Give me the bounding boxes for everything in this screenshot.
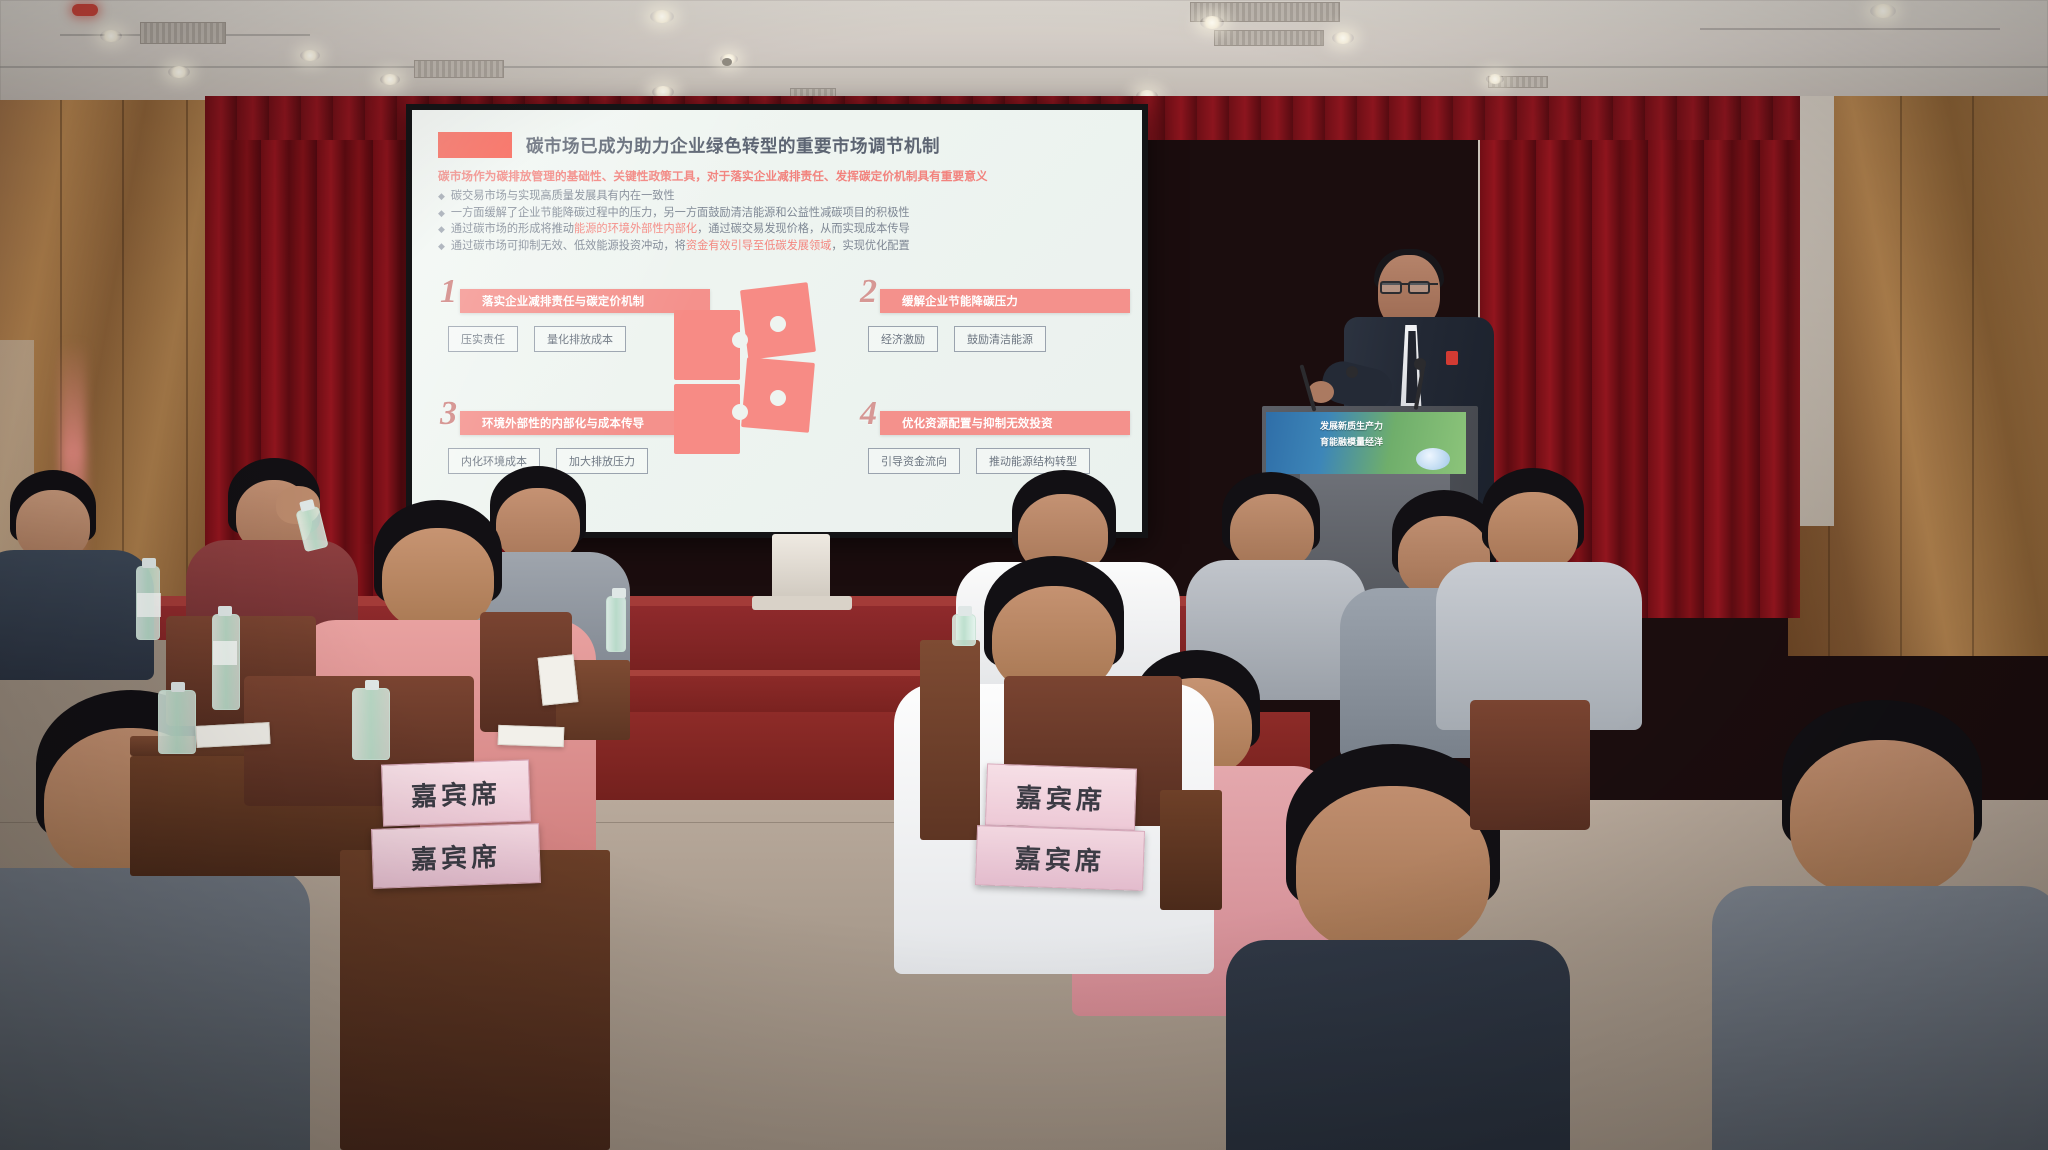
section-heading: 缓解企业节能降碳压力 [902, 293, 1018, 309]
person-torso [1226, 940, 1570, 1150]
ceiling-light [168, 66, 190, 78]
section-number: 1 [440, 275, 457, 309]
bottle-label [213, 641, 237, 665]
bottle-cap [171, 682, 185, 692]
ceiling-vent [414, 60, 504, 78]
bullet-text: 一方面缓解了企业节能降碳过程中的压力，另一方面鼓励清洁能源和公益性减碳项目的积极… [451, 206, 910, 222]
section-heading: 落实企业减排责任与碳定价机制 [482, 293, 644, 309]
bottle-cap [365, 680, 379, 690]
ceiling-vent [1214, 30, 1324, 46]
podium-banner: 发展新质生产力 育能融模量经洋 [1266, 412, 1466, 474]
section-bar: 优化资源配置与抑制无效投资 [880, 411, 1130, 435]
guest-name-card: 嘉宾席 [975, 825, 1145, 891]
ceiling-light [1332, 32, 1354, 44]
puzzle-piece [674, 310, 740, 380]
person-head [1488, 492, 1578, 572]
slide-lead-text: 碳市场作为碳排放管理的基础性、关键性政策工具，对于落实企业减排责任、发挥碳定价机… [438, 168, 1116, 184]
ceiling-light [1486, 74, 1504, 84]
water-bottle[interactable] [352, 688, 390, 760]
bullet-item: ◆ 通过碳市场可抑制无效、低效能源投资冲动，将资金有效引导至低碳发展领域，实现优… [438, 239, 1116, 255]
person-torso [0, 550, 154, 680]
chair[interactable] [1470, 700, 1590, 830]
paper-document[interactable] [195, 722, 270, 748]
person-head [1230, 494, 1314, 570]
ceiling-sensor [722, 58, 732, 66]
desk [1160, 790, 1222, 910]
slide-section-2: 2 缓解企业节能降碳压力 经济激励 鼓励清洁能源 [858, 288, 1142, 352]
ceiling-panel [0, 66, 2048, 68]
bottle-cap [958, 606, 972, 616]
puzzle-knob [732, 332, 748, 348]
slide-title-row: 碳市场已成为助力企业绿色转型的重要市场调节机制 [438, 132, 1116, 158]
section-header: 2 缓解企业节能降碳压力 [858, 288, 1142, 314]
screen-stand-base [752, 596, 852, 610]
audience-member [1436, 468, 1636, 688]
water-bottle[interactable] [606, 596, 626, 652]
section-heading: 环境外部性的内部化与成本传导 [482, 415, 644, 431]
ceiling-light [300, 50, 320, 61]
slide-title: 碳市场已成为助力企业绿色转型的重要市场调节机制 [526, 133, 940, 158]
puzzle-knob [770, 316, 786, 332]
section-bar: 环境外部性的内部化与成本传导 [460, 411, 710, 435]
glasses-lens-left [1380, 281, 1402, 294]
ceiling-vent [140, 22, 226, 44]
paper-document[interactable] [498, 725, 565, 747]
audience-member-foreground [1712, 700, 2048, 1150]
puzzle-graphic [674, 286, 824, 456]
ceiling-light [650, 10, 674, 23]
bullet-marker-icon: ◆ [438, 206, 445, 222]
water-bottle[interactable] [212, 614, 240, 710]
person-torso [1712, 886, 2048, 1150]
bullet-highlight: 资金有效引导至低碳发展领域 [686, 240, 831, 252]
wall-seam [1972, 96, 1974, 656]
bottle-cap [612, 588, 626, 598]
bullet-text: 通过碳市场的形成将推动能源的环境外部性内部化，通过碳交易发现价格，从而实现成本传… [451, 222, 910, 238]
person-head [382, 528, 494, 630]
section-bar: 缓解企业节能降碳压力 [880, 289, 1130, 313]
podium-banner-line1: 发展新质生产力 [1320, 420, 1383, 432]
desk-front [340, 850, 610, 1150]
paper-document[interactable] [538, 654, 579, 706]
ceiling-light [380, 74, 400, 85]
title-accent-block [438, 132, 512, 158]
person-head [1790, 740, 1974, 896]
bullet-marker-icon: ◆ [438, 239, 445, 255]
bottle-label [137, 593, 161, 617]
guest-name-card: 嘉宾席 [381, 759, 531, 826]
glasses-lens-right [1408, 281, 1430, 294]
microphone-head [1414, 358, 1426, 370]
section-header: 4 优化资源配置与抑制无效投资 [858, 410, 1142, 436]
speaker-lapel-badge [1446, 351, 1458, 365]
bullet-item: ◆ 一方面缓解了企业节能降碳过程中的压力，另一方面鼓励清洁能源和公益性减碳项目的… [438, 206, 1116, 222]
globe-icon [1416, 448, 1450, 470]
guest-name-card: 嘉宾席 [985, 763, 1137, 830]
section-tag: 引导资金流向 [868, 448, 960, 474]
section-tag: 鼓励清洁能源 [954, 326, 1046, 352]
bullet-marker-icon: ◆ [438, 189, 445, 205]
section-tag: 经济激励 [868, 326, 938, 352]
ceiling-light [1200, 16, 1224, 29]
section-number: 4 [860, 397, 877, 431]
podium-banner-line2: 育能融模量经洋 [1320, 436, 1383, 448]
ceiling-panel [1700, 28, 2000, 30]
guest-name-card: 嘉宾席 [371, 823, 541, 889]
water-bottle[interactable] [136, 566, 160, 640]
puzzle-piece [674, 384, 740, 454]
puzzle-knob [770, 390, 786, 406]
slide-bullet-list: ◆ 碳交易市场与实现高质量发展具有内在一致性 ◆ 一方面缓解了企业节能降碳过程中… [438, 189, 1116, 254]
wall-seam [1900, 96, 1902, 656]
desk [920, 640, 980, 840]
water-bottle[interactable] [952, 614, 976, 646]
bullet-item: ◆ 碳交易市场与实现高质量发展具有内在一致性 [438, 189, 1116, 205]
bullet-item: ◆ 通过碳市场的形成将推动能源的环境外部性内部化，通过碳交易发现价格，从而实现成… [438, 222, 1116, 238]
bottle-cap [218, 606, 232, 616]
section-tag: 压实责任 [448, 326, 518, 352]
bottle-cap [142, 558, 156, 568]
section-tag: 量化排放成本 [534, 326, 626, 352]
puzzle-knob [732, 404, 748, 420]
water-bottle[interactable] [158, 690, 196, 754]
section-tags: 经济激励 鼓励清洁能源 [868, 326, 1142, 352]
section-heading: 优化资源配置与抑制无效投资 [902, 415, 1053, 431]
section-bar: 落实企业减排责任与碳定价机制 [460, 289, 710, 313]
bullet-text: 碳交易市场与实现高质量发展具有内在一致性 [451, 189, 675, 205]
person-torso [0, 868, 310, 1150]
bullet-marker-icon: ◆ [438, 222, 445, 238]
bullet-text: 通过碳市场可抑制无效、低效能源投资冲动，将资金有效引导至低碳发展领域，实现优化配… [451, 239, 910, 255]
ceiling-light [1870, 4, 1896, 18]
conference-room-scene: 碳市场已成为助力企业绿色转型的重要市场调节机制 碳市场作为碳排放管理的基础性、关… [0, 0, 2048, 1150]
section-number: 2 [860, 275, 877, 309]
microphone-head [1346, 366, 1358, 378]
slide-section-4: 4 优化资源配置与抑制无效投资 引导资金流向 推动能源结构转型 [858, 410, 1142, 474]
bullet-highlight: 能源的环境外部性内部化 [574, 223, 697, 235]
section-number: 3 [440, 397, 457, 431]
audience-member [0, 470, 150, 670]
ceiling-alarm [72, 4, 98, 16]
ceiling-light [100, 30, 122, 42]
person-head [1296, 786, 1490, 954]
